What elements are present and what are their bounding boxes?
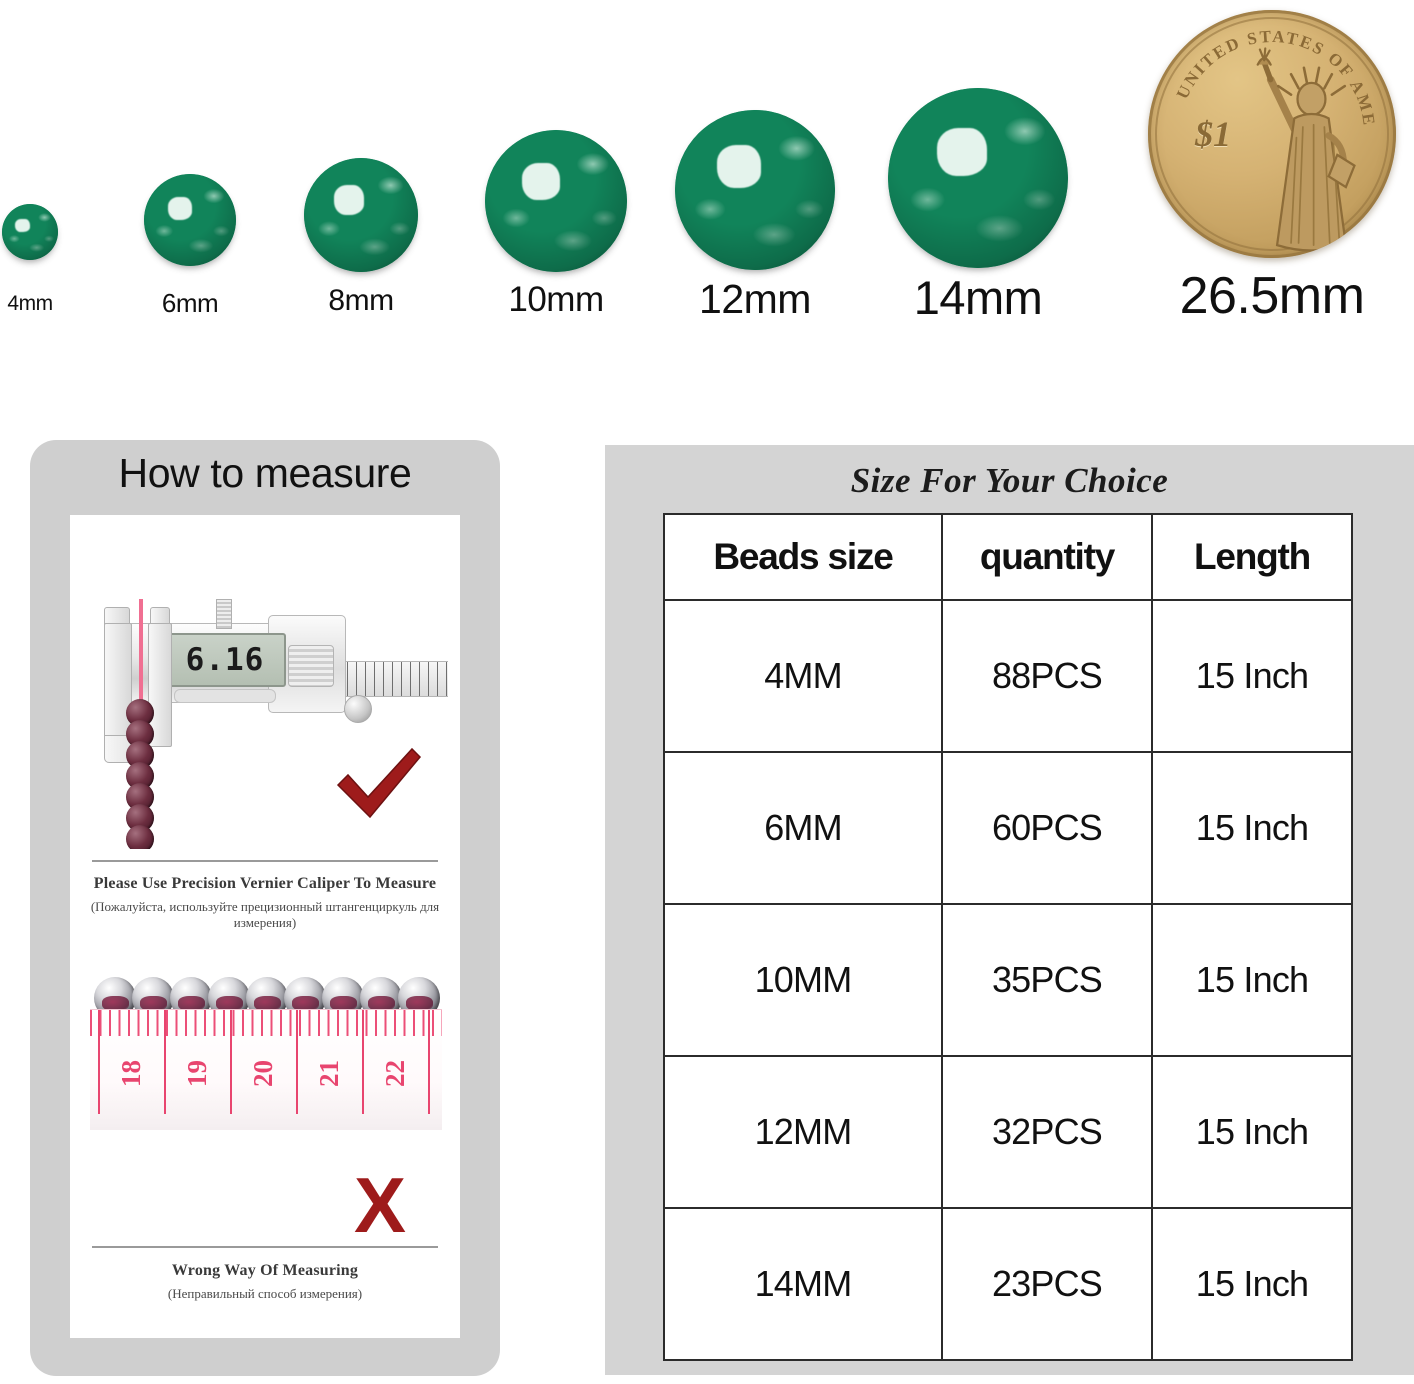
bead-label-4mm: 4mm <box>7 292 52 316</box>
coin-label-26-5mm: 26.5mm <box>1180 266 1365 326</box>
how-to-measure-panel: How to measure 6.16 <box>30 440 500 1376</box>
malachite-bead-icon <box>304 158 418 272</box>
wrong-measuring-card: 18 19 20 21 22 X Wrong Way Of Measuring … <box>70 930 460 1338</box>
cell-quantity: 35PCS <box>942 904 1152 1056</box>
tape-number-18: 18 <box>116 1060 147 1087</box>
statue-of-liberty-icon <box>1247 35 1376 253</box>
caliper-card-divider <box>92 860 438 862</box>
bead-sample-8mm: 8mm <box>304 0 418 360</box>
cell-length: 15 Inch <box>1152 1056 1352 1208</box>
cell-beads-size: 14MM <box>664 1208 942 1360</box>
bead-sample-14mm: 14mm <box>888 0 1068 360</box>
bead-label-6mm: 6mm <box>162 288 218 319</box>
tape-card-divider <box>92 1246 438 1248</box>
cell-beads-size: 4MM <box>664 600 942 752</box>
coin-denomination: $1 <box>1195 113 1231 155</box>
cell-quantity: 32PCS <box>942 1056 1152 1208</box>
vernier-caliper-illustration: 6.16 <box>82 549 448 849</box>
table-row: 14MM 23PCS 15 Inch <box>664 1208 1352 1360</box>
table-row: 10MM 35PCS 15 Inch <box>664 904 1352 1056</box>
tape-measure-strip: 18 19 20 21 22 <box>90 1009 442 1130</box>
caliper-lcd-display: 6.16 <box>164 633 286 687</box>
column-header-beads-size: Beads size <box>664 514 942 600</box>
cell-beads-size: 10MM <box>664 904 942 1056</box>
malachite-bead-icon <box>485 130 627 272</box>
size-table: Beads size quantity Length 4MM 88PCS 15 … <box>663 513 1353 1361</box>
wrong-caption-ru: (Неправильный способ измерения) <box>70 1286 460 1302</box>
table-row: 4MM 88PCS 15 Inch <box>664 600 1352 752</box>
bead-sample-6mm: 6mm <box>144 0 236 360</box>
bead-strand-vertical <box>124 699 158 849</box>
column-header-quantity: quantity <box>942 514 1152 600</box>
check-mark-icon <box>332 745 424 823</box>
dollar-coin-icon: UNITED STATES OF AMERICA $1 <box>1148 10 1396 258</box>
malachite-bead-icon <box>675 110 835 270</box>
bead-sample-10mm: 10mm <box>485 0 627 360</box>
cell-length: 15 Inch <box>1152 752 1352 904</box>
bead-label-12mm: 12mm <box>699 276 811 323</box>
tape-number-19: 19 <box>182 1060 213 1087</box>
cell-quantity: 23PCS <box>942 1208 1152 1360</box>
table-header-row: Beads size quantity Length <box>664 514 1352 600</box>
correct-measuring-card: 6.16 <box>70 515 460 958</box>
malachite-bead-icon <box>144 174 236 266</box>
cell-length: 15 Inch <box>1152 1208 1352 1360</box>
table-row: 6MM 60PCS 15 Inch <box>664 752 1352 904</box>
cell-beads-size: 12MM <box>664 1056 942 1208</box>
cell-length: 15 Inch <box>1152 600 1352 752</box>
cell-length: 15 Inch <box>1152 904 1352 1056</box>
bead-label-10mm: 10mm <box>508 280 603 320</box>
bead-label-14mm: 14mm <box>914 270 1043 325</box>
tape-number-21: 21 <box>314 1060 345 1087</box>
bead-size-comparison-strip: 4mm 6mm 8mm 10mm 12mm <box>0 0 1414 360</box>
size-table-title: Size For Your Choice <box>605 461 1414 501</box>
size-table-panel: Size For Your Choice Beads size quantity… <box>605 445 1414 1375</box>
tape-number-22: 22 <box>380 1060 411 1087</box>
bead-sample-12mm: 12mm <box>675 0 835 360</box>
x-mark-icon: X <box>354 1166 406 1244</box>
tape-number-20: 20 <box>248 1060 279 1087</box>
wrong-caption-en: Wrong Way Of Measuring <box>70 1262 460 1280</box>
correct-caption-en: Please Use Precision Vernier Caliper To … <box>70 875 460 893</box>
column-header-length: Length <box>1152 514 1352 600</box>
bead-sample-4mm: 4mm <box>2 0 58 360</box>
cell-quantity: 60PCS <box>942 752 1152 904</box>
correct-caption-ru: (Пожалуйста, используйте прецизионный шт… <box>70 899 460 931</box>
how-to-measure-title: How to measure <box>30 450 500 497</box>
us-dollar-coin-sample: UNITED STATES OF AMERICA $1 <box>1148 0 1396 360</box>
caliper-reading: 6.16 <box>186 642 265 678</box>
table-row: 12MM 32PCS 15 Inch <box>664 1056 1352 1208</box>
malachite-bead-icon <box>888 88 1068 268</box>
bead-label-8mm: 8mm <box>328 284 393 318</box>
tape-measure-illustration: 18 19 20 21 22 <box>90 975 442 1175</box>
cell-quantity: 88PCS <box>942 600 1152 752</box>
cell-beads-size: 6MM <box>664 752 942 904</box>
malachite-bead-icon <box>2 204 58 260</box>
